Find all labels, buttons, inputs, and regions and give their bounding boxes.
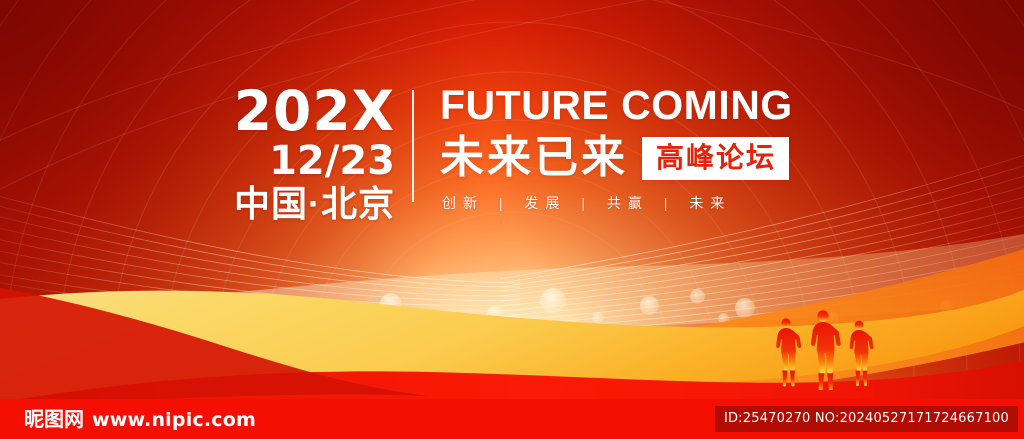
year-text: 202X bbox=[150, 84, 395, 138]
keywords-row: 创新 | 发展 | 共赢 | 未来 bbox=[440, 193, 840, 213]
keyword-2: 发展 bbox=[524, 195, 566, 211]
asset-id-badge: ID:25470270 NO:20240527171724667100 bbox=[715, 406, 1018, 432]
keyword-separator-2: | bbox=[577, 195, 596, 211]
title-block: FUTURE COMING 未来已来 高峰论坛 创新 | 发展 | 共赢 | 未… bbox=[440, 84, 840, 213]
runner-left bbox=[776, 318, 801, 386]
date-location-block: 202X 12/23 中国·北京 bbox=[150, 84, 395, 223]
event-poster: 202X 12/23 中国·北京 FUTURE COMING 未来已来 高峰论坛… bbox=[0, 0, 1024, 439]
watermark: 昵图网 www.nipic.com bbox=[24, 409, 256, 431]
date-text: 12/23 bbox=[150, 140, 395, 182]
watermark-brand: 昵图网 bbox=[24, 409, 84, 431]
chinese-title-row: 未来已来 高峰论坛 bbox=[440, 135, 840, 181]
chinese-title: 未来已来 bbox=[440, 135, 628, 181]
keyword-1: 创新 bbox=[442, 195, 484, 211]
runner-silhouettes bbox=[766, 306, 882, 390]
vertical-divider bbox=[412, 90, 414, 202]
forum-badge: 高峰论坛 bbox=[642, 137, 789, 180]
keyword-4: 未来 bbox=[689, 195, 731, 211]
runner-right bbox=[850, 321, 874, 386]
keyword-separator-1: | bbox=[495, 195, 514, 211]
english-title: FUTURE COMING bbox=[440, 84, 840, 126]
runner-center bbox=[811, 310, 841, 390]
keyword-3: 共赢 bbox=[607, 195, 649, 211]
keyword-separator-3: | bbox=[660, 195, 679, 211]
watermark-url: www.nipic.com bbox=[92, 409, 256, 431]
city-text: 中国·北京 bbox=[150, 185, 395, 223]
